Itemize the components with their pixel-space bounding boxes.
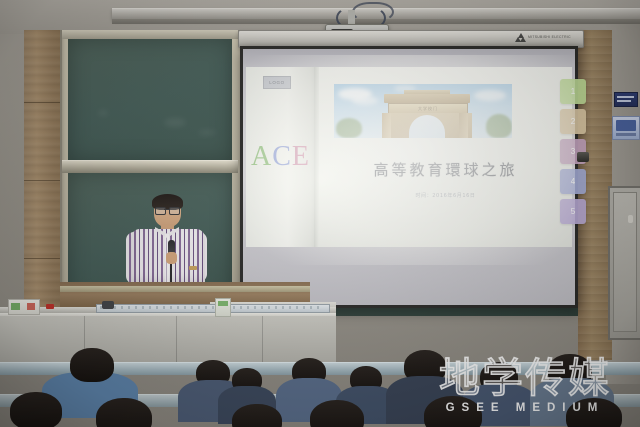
slide-book-spine	[314, 67, 319, 247]
projector-mount-arm	[348, 10, 355, 25]
counter-small-object-red	[46, 304, 54, 309]
brand-letter-a: A	[251, 141, 272, 172]
slide-tab-1[interactable]: 1	[560, 79, 586, 104]
counter-box-right	[215, 298, 231, 317]
slide-logo-placeholder: LOGO	[263, 76, 291, 89]
counter-box-left	[8, 299, 40, 315]
chalkboard-top-lip	[62, 30, 238, 39]
audience-head	[310, 400, 364, 427]
wainscot-rail	[60, 286, 310, 292]
university-gate-illustration: 大学校门	[378, 94, 476, 138]
slide-logo-text: LOGO	[269, 80, 284, 85]
lecture-hall-photo: MITSUBISHI ELECTRIC LOGO ACE 大学校门	[0, 0, 640, 427]
presenter-hand	[166, 252, 177, 264]
slide-header-photo: 大学校门	[334, 84, 512, 138]
watermark-english: GSEE MEDIUM	[420, 402, 630, 414]
screen-edge-handle	[577, 152, 589, 162]
slide-title: 高等教育環球之旅	[319, 159, 572, 180]
chalkboard-upper-panel	[68, 38, 232, 162]
slide-tab-5[interactable]: 5	[560, 199, 586, 224]
wall-cabinet-inner-panel	[613, 192, 637, 332]
mitsubishi-diamond-icon	[516, 33, 525, 41]
cabinet-knob-icon[interactable]	[628, 215, 633, 223]
watermark-chinese: 地学传媒	[420, 358, 630, 399]
audience-head	[70, 348, 114, 382]
wristwatch-icon	[189, 266, 197, 270]
slide-brand-letters: ACE	[251, 143, 310, 171]
audience-head	[96, 398, 152, 427]
glasses-icon	[155, 207, 180, 213]
slide-tab-2[interactable]: 2	[560, 109, 586, 134]
wall-poster	[612, 116, 640, 140]
watermark: 地学传媒 GSEE MEDIUM	[420, 358, 630, 414]
brand-letter-c: C	[272, 141, 292, 172]
wall-sign-blue	[614, 92, 638, 107]
chalk-tray	[62, 160, 238, 173]
brand-letter-e: E	[292, 141, 310, 172]
counter-rail-strip	[100, 306, 320, 309]
housing-brand-text: MITSUBISHI ELECTRIC	[528, 35, 571, 39]
audience-head	[10, 392, 62, 427]
mitsubishi-brand-mark: MITSUBISHI ELECTRIC	[516, 33, 571, 41]
slide-subtitle: 时间：2016年6月16日	[319, 192, 572, 199]
counter-small-object-dark	[102, 301, 114, 309]
slide-tab-4[interactable]: 4	[560, 169, 586, 194]
presentation-slide: LOGO ACE 大学校门 高等教育環球之旅 时间：2016年6月16日	[246, 67, 572, 247]
